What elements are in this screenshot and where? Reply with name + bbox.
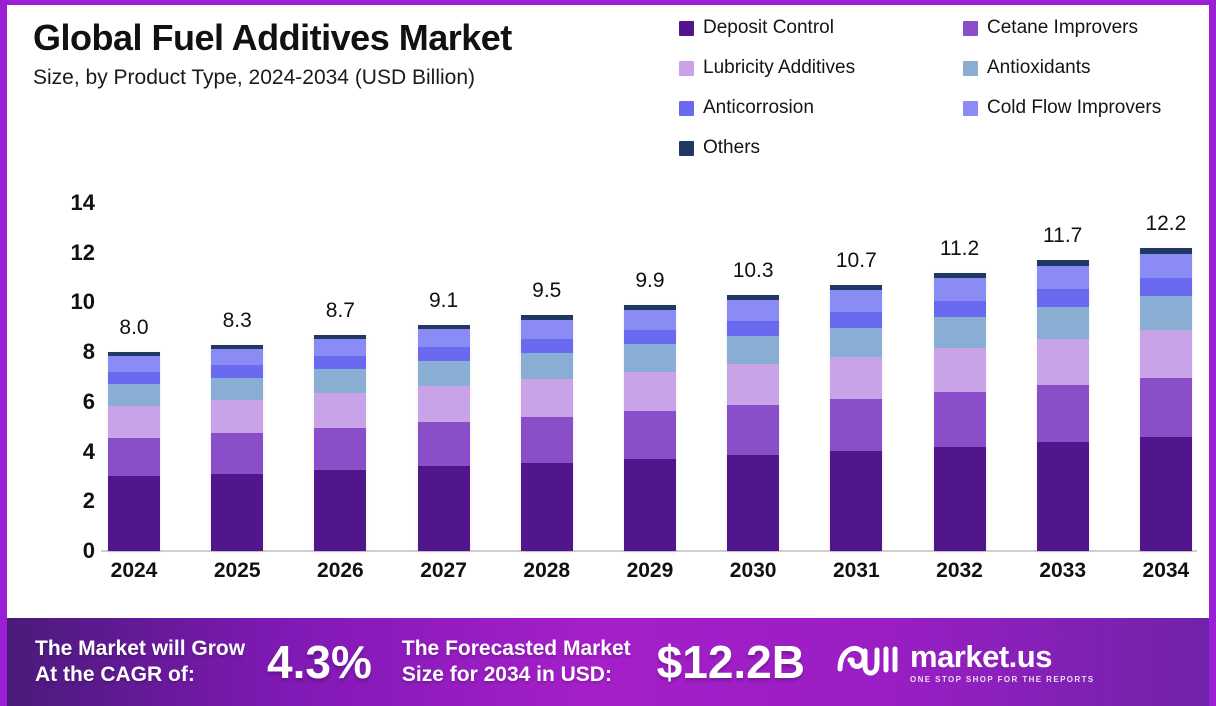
bar-column[interactable]: 10.3: [722, 295, 784, 551]
bar-segment[interactable]: [830, 399, 882, 451]
y-axis-tick: 12: [33, 240, 95, 266]
bar-segment[interactable]: [934, 317, 986, 348]
bar-value-label: 11.7: [1043, 224, 1082, 248]
x-axis: 2024202520262027202820292030203120322033…: [103, 559, 1197, 583]
bar-segment[interactable]: [1037, 307, 1089, 339]
x-axis-tick: 2030: [722, 559, 784, 583]
bar-segment[interactable]: [1140, 330, 1192, 378]
bar-segment[interactable]: [418, 361, 470, 386]
stacked-bar[interactable]: [108, 352, 160, 551]
y-axis-tick: 0: [33, 538, 95, 564]
bar-segment[interactable]: [624, 372, 676, 411]
legend-label: Anticorrosion: [703, 97, 814, 119]
legend-swatch-icon: [963, 21, 978, 36]
bar-value-label: 10.3: [733, 259, 774, 283]
logo-name: market.us: [910, 641, 1095, 672]
bar-segment[interactable]: [314, 369, 366, 393]
bar-segment[interactable]: [418, 422, 470, 466]
stacked-bar[interactable]: [314, 335, 366, 551]
y-axis: 02468101214: [33, 203, 95, 551]
bar-segment[interactable]: [727, 364, 779, 405]
stacked-bar[interactable]: [934, 273, 986, 551]
bar-segment[interactable]: [211, 433, 263, 473]
bar-value-label: 9.1: [429, 289, 458, 313]
x-axis-tick: 2032: [929, 559, 991, 583]
bar-segment[interactable]: [1037, 442, 1089, 551]
bar-segment[interactable]: [1140, 437, 1192, 551]
bar-segment[interactable]: [1140, 278, 1192, 296]
legend-label: Deposit Control: [703, 17, 834, 39]
legend-swatch-icon: [679, 101, 694, 116]
bar-segment[interactable]: [830, 357, 882, 400]
x-axis-tick: 2028: [516, 559, 578, 583]
bar-segment[interactable]: [521, 463, 573, 551]
legend-item[interactable]: Antioxidants: [963, 57, 1215, 79]
page-subtitle: Size, by Product Type, 2024-2034 (USD Bi…: [33, 66, 673, 90]
bar-value-label: 8.0: [119, 316, 148, 340]
bar-value-label: 8.7: [326, 299, 355, 323]
bar-segment[interactable]: [108, 476, 160, 551]
legend-label: Lubricity Additives: [703, 57, 855, 79]
bar-segment[interactable]: [108, 384, 160, 406]
bar-segment[interactable]: [1037, 339, 1089, 385]
bar-segment[interactable]: [624, 330, 676, 345]
bar-column[interactable]: 8.7: [309, 335, 371, 551]
y-axis-tick: 4: [33, 439, 95, 465]
bar-segment[interactable]: [830, 290, 882, 311]
bar-segment[interactable]: [211, 474, 263, 551]
bar-segment[interactable]: [934, 301, 986, 318]
legend-swatch-icon: [679, 21, 694, 36]
bar-segment[interactable]: [624, 411, 676, 459]
legend-item[interactable]: Anticorrosion: [679, 97, 963, 119]
y-axis-tick: 6: [33, 389, 95, 415]
chart-legend: Deposit ControlCetane ImproversLubricity…: [679, 17, 1215, 159]
stacked-bar[interactable]: [624, 305, 676, 551]
footer-banner: The Market will Grow At the CAGR of: 4.3…: [7, 618, 1216, 706]
bar-segment[interactable]: [418, 386, 470, 422]
bar-segment[interactable]: [211, 365, 263, 377]
x-axis-tick: 2031: [825, 559, 887, 583]
x-axis-tick: 2029: [619, 559, 681, 583]
chart-plot-area: 02468101214 8.08.38.79.19.59.910.310.711…: [33, 203, 1197, 603]
forecast-value: $12.2B: [657, 635, 805, 689]
bar-segment[interactable]: [934, 447, 986, 551]
bar-segment[interactable]: [314, 356, 366, 369]
legend-item[interactable]: Cetane Improvers: [963, 17, 1215, 39]
y-axis-tick: 2: [33, 488, 95, 514]
bar-segment[interactable]: [108, 372, 160, 384]
bar-segment[interactable]: [1037, 385, 1089, 442]
bar-segment[interactable]: [934, 278, 986, 300]
page-title: Global Fuel Additives Market: [33, 19, 673, 57]
x-axis-tick: 2027: [413, 559, 475, 583]
bar-segment[interactable]: [418, 347, 470, 361]
bar-value-label: 9.5: [532, 279, 561, 303]
bar-value-label: 9.9: [635, 269, 664, 293]
bar-segment[interactable]: [624, 310, 676, 330]
x-axis-tick: 2034: [1135, 559, 1197, 583]
bar-segment[interactable]: [727, 321, 779, 336]
legend-label: Antioxidants: [987, 57, 1091, 79]
bar-segment[interactable]: [211, 349, 263, 365]
x-axis-tick: 2026: [309, 559, 371, 583]
bar-segment[interactable]: [211, 400, 263, 433]
x-axis-tick: 2024: [103, 559, 165, 583]
bar-value-label: 11.2: [940, 237, 979, 261]
forecast-caption: The Forecasted Market Size for 2034 in U…: [402, 636, 631, 687]
stacked-bar[interactable]: [521, 315, 573, 551]
legend-label: Cold Flow Improvers: [987, 97, 1161, 119]
legend-label: Cetane Improvers: [987, 17, 1138, 39]
bar-column[interactable]: 11.2: [929, 273, 991, 551]
stacked-bar[interactable]: [1140, 248, 1192, 551]
bar-segment[interactable]: [314, 393, 366, 428]
x-axis-tick: 2033: [1032, 559, 1094, 583]
bar-segment[interactable]: [727, 300, 779, 320]
bar-segment[interactable]: [211, 378, 263, 401]
bar-value-label: 12.2: [1145, 212, 1186, 236]
legend-swatch-icon: [679, 141, 694, 156]
bar-segment[interactable]: [1140, 378, 1192, 437]
bar-segment[interactable]: [830, 451, 882, 551]
stacked-bar[interactable]: [418, 325, 470, 551]
stacked-bar[interactable]: [1037, 260, 1089, 551]
stacked-bar[interactable]: [211, 345, 263, 551]
cagr-caption: The Market will Grow At the CAGR of:: [35, 636, 245, 687]
bar-segment[interactable]: [521, 379, 573, 417]
bar-column[interactable]: 9.5: [516, 315, 578, 551]
bar-segment[interactable]: [108, 356, 160, 372]
bar-series-container: 8.08.38.79.19.59.910.310.711.211.712.2: [103, 203, 1197, 551]
legend-swatch-icon: [963, 101, 978, 116]
bar-segment[interactable]: [108, 406, 160, 438]
cagr-caption-line2: At the CAGR of:: [35, 662, 245, 688]
bar-column[interactable]: 8.0: [103, 352, 165, 551]
legend-item[interactable]: Deposit Control: [679, 17, 963, 39]
bar-segment[interactable]: [1140, 254, 1192, 278]
legend-swatch-icon: [963, 61, 978, 76]
bar-column[interactable]: 8.3: [206, 345, 268, 551]
bar-segment[interactable]: [624, 344, 676, 371]
stacked-bar[interactable]: [830, 285, 882, 551]
bar-column[interactable]: 9.1: [413, 325, 475, 551]
y-axis-tick: 8: [33, 339, 95, 365]
bar-column[interactable]: 9.9: [619, 305, 681, 551]
bar-segment[interactable]: [314, 339, 366, 356]
bar-segment[interactable]: [727, 405, 779, 455]
bar-column[interactable]: 12.2: [1135, 248, 1197, 551]
bar-segment[interactable]: [418, 466, 470, 551]
bar-segment[interactable]: [934, 392, 986, 446]
bar-column[interactable]: 10.7: [825, 285, 887, 551]
bar-column[interactable]: 11.7: [1032, 260, 1094, 551]
bar-segment[interactable]: [521, 339, 573, 353]
bar-segment[interactable]: [521, 320, 573, 339]
infographic-card: Global Fuel Additives Market Size, by Pr…: [0, 0, 1216, 706]
legend-swatch-icon: [679, 61, 694, 76]
bar-segment[interactable]: [521, 417, 573, 463]
bar-segment[interactable]: [727, 336, 779, 364]
bar-segment[interactable]: [1140, 296, 1192, 329]
y-axis-tick: 14: [33, 190, 95, 216]
bar-segment[interactable]: [727, 455, 779, 551]
legend-item[interactable]: Lubricity Additives: [679, 57, 963, 79]
bar-value-label: 10.7: [836, 249, 877, 273]
bar-segment[interactable]: [830, 328, 882, 357]
cagr-value: 4.3%: [267, 635, 372, 689]
market-us-logo[interactable]: market.us ONE STOP SHOP FOR THE REPORTS: [835, 639, 1095, 686]
market-us-logo-text: market.us ONE STOP SHOP FOR THE REPORTS: [910, 641, 1095, 684]
bar-segment[interactable]: [1037, 289, 1089, 306]
bar-segment[interactable]: [624, 459, 676, 551]
legend-item[interactable]: Cold Flow Improvers: [963, 97, 1215, 119]
forecast-caption-line1: The Forecasted Market: [402, 636, 631, 662]
bar-segment[interactable]: [1037, 266, 1089, 289]
bar-value-label: 8.3: [223, 309, 252, 333]
market-us-logo-icon: [835, 639, 899, 686]
legend-item[interactable]: Others: [679, 137, 963, 159]
bar-segment[interactable]: [934, 348, 986, 392]
bar-segment[interactable]: [314, 470, 366, 551]
logo-tagline: ONE STOP SHOP FOR THE REPORTS: [910, 676, 1095, 684]
legend-label: Others: [703, 137, 760, 159]
bar-segment[interactable]: [830, 312, 882, 328]
bar-segment[interactable]: [418, 329, 470, 347]
chart-header: Global Fuel Additives Market Size, by Pr…: [33, 19, 673, 90]
stacked-bar[interactable]: [727, 295, 779, 551]
bar-segment[interactable]: [108, 438, 160, 477]
cagr-caption-line1: The Market will Grow: [35, 636, 245, 662]
forecast-caption-line2: Size for 2034 in USD:: [402, 662, 631, 688]
x-axis-tick: 2025: [206, 559, 268, 583]
bar-segment[interactable]: [314, 428, 366, 470]
y-axis-tick: 10: [33, 289, 95, 315]
bar-segment[interactable]: [521, 353, 573, 379]
